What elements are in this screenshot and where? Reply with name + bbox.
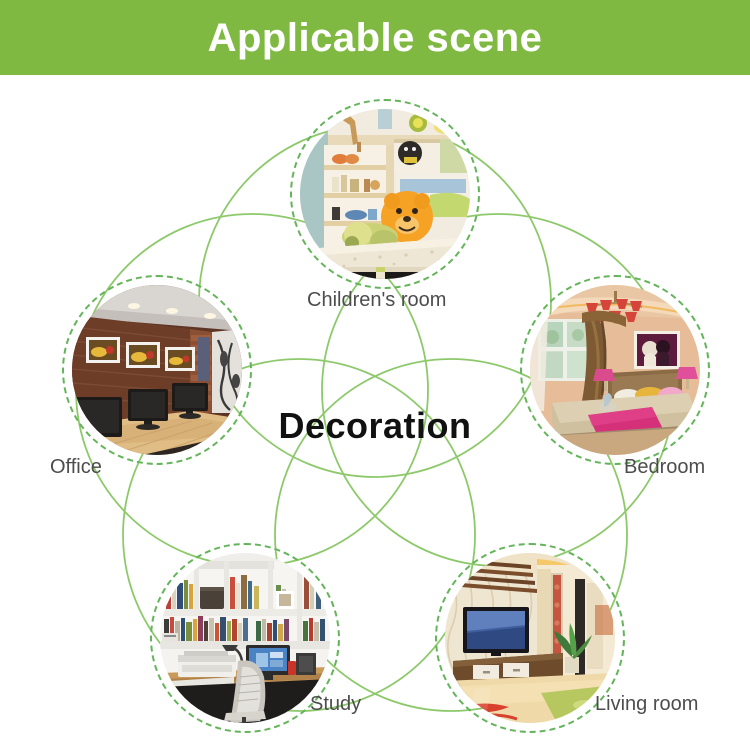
scene-label-bedroom: Bedroom — [624, 456, 705, 479]
scene-label-office: Office — [50, 456, 102, 479]
scene-node-bedroom[interactable] — [520, 275, 710, 465]
scene-label-living-room: Living room — [595, 693, 698, 716]
scene-label-study: Study — [310, 693, 361, 716]
living-room-photo — [445, 553, 615, 723]
scene-node-office[interactable] — [62, 275, 252, 465]
page-title: Applicable scene — [208, 18, 543, 58]
applicable-scene-diagram: Decoration — [0, 75, 750, 750]
office-photo — [72, 285, 242, 455]
bedroom-photo — [530, 285, 700, 455]
scene-node-children-room[interactable] — [290, 99, 480, 289]
childrens-room-photo — [300, 109, 470, 279]
study-photo — [160, 553, 330, 723]
scene-label-children-room: Children's room — [307, 289, 446, 312]
header-banner: Applicable scene — [0, 0, 750, 75]
